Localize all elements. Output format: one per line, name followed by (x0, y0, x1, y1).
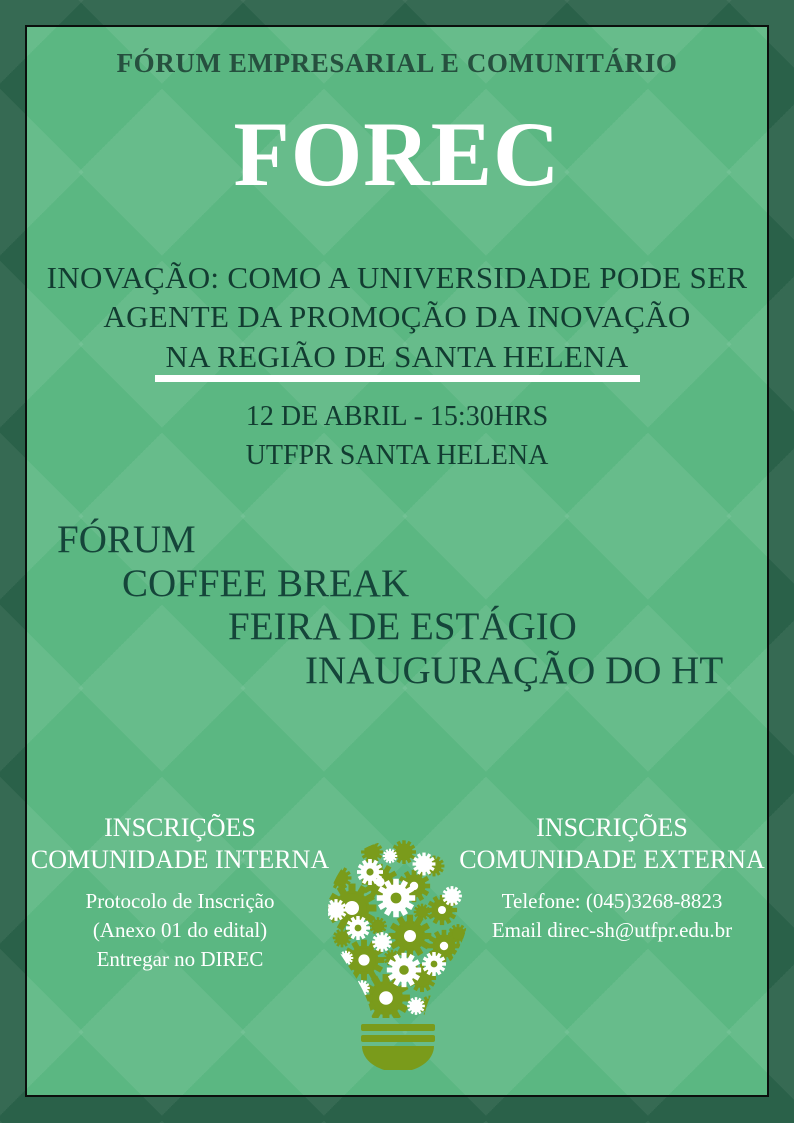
program-item: INAUGURAÇÃO DO HT (0, 649, 794, 693)
poster-content: FÓRUM EMPRESARIAL E COMUNITÁRIO FOREC IN… (0, 0, 794, 1123)
program-list: FÓRUM COFFEE BREAK FEIRA DE ESTÁGIO INAU… (0, 518, 794, 693)
program-item: COFFEE BREAK (0, 562, 794, 606)
registration-external-details: Telefone: (045)3268-8823 Email direc-sh@… (452, 887, 772, 944)
registration-internal-block: INSCRIÇÕES COMUNIDADE INTERNA Protocolo … (20, 812, 340, 973)
poster-kicker: FÓRUM EMPRESARIAL E COMUNITÁRIO (0, 48, 794, 79)
registration-internal-detail-2: (Anexo 01 do edital) (20, 916, 340, 945)
subtitle-line-3: NA REGIÃO DE SANTA HELENA (22, 337, 772, 376)
event-datetime: 12 DE ABRIL - 15:30HRS (0, 398, 794, 437)
white-divider-rule (155, 375, 640, 382)
registration-external-block: INSCRIÇÕES COMUNIDADE EXTERNA Telefone: … (452, 812, 772, 945)
poster: FÓRUM EMPRESARIAL E COMUNITÁRIO FOREC IN… (0, 0, 794, 1123)
lightbulb-gears-icon (318, 838, 478, 1070)
registration-external-title-line-1: INSCRIÇÕES (452, 812, 772, 844)
event-datetime-venue: 12 DE ABRIL - 15:30HRS UTFPR SANTA HELEN… (0, 398, 794, 475)
program-item: FEIRA DE ESTÁGIO (0, 605, 794, 649)
subtitle-line-2: AGENTE DA PROMOÇÃO DA INOVAÇÃO (22, 297, 772, 336)
contact-phone: Telefone: (045)3268-8823 (452, 887, 772, 916)
program-item: FÓRUM (0, 518, 794, 562)
registration-internal-title-line-2: COMUNIDADE INTERNA (20, 844, 340, 876)
registration-external-title: INSCRIÇÕES COMUNIDADE EXTERNA (452, 812, 772, 875)
subtitle-line-1: INOVAÇÃO: COMO A UNIVERSIDADE PODE SER (22, 258, 772, 297)
registration-internal-details: Protocolo de Inscrição (Anexo 01 do edit… (20, 887, 340, 973)
registration-internal-title-line-1: INSCRIÇÕES (20, 812, 340, 844)
registration-internal-detail-1: Protocolo de Inscrição (20, 887, 340, 916)
event-venue: UTFPR SANTA HELENA (0, 437, 794, 476)
registration-internal-title: INSCRIÇÕES COMUNIDADE INTERNA (20, 812, 340, 875)
registration-internal-detail-3: Entregar no DIREC (20, 945, 340, 974)
poster-subtitle: INOVAÇÃO: COMO A UNIVERSIDADE PODE SER A… (22, 258, 772, 376)
contact-email: Email direc-sh@utfpr.edu.br (452, 916, 772, 945)
registration-external-title-line-2: COMUNIDADE EXTERNA (452, 844, 772, 876)
poster-headline: FOREC (0, 108, 794, 200)
